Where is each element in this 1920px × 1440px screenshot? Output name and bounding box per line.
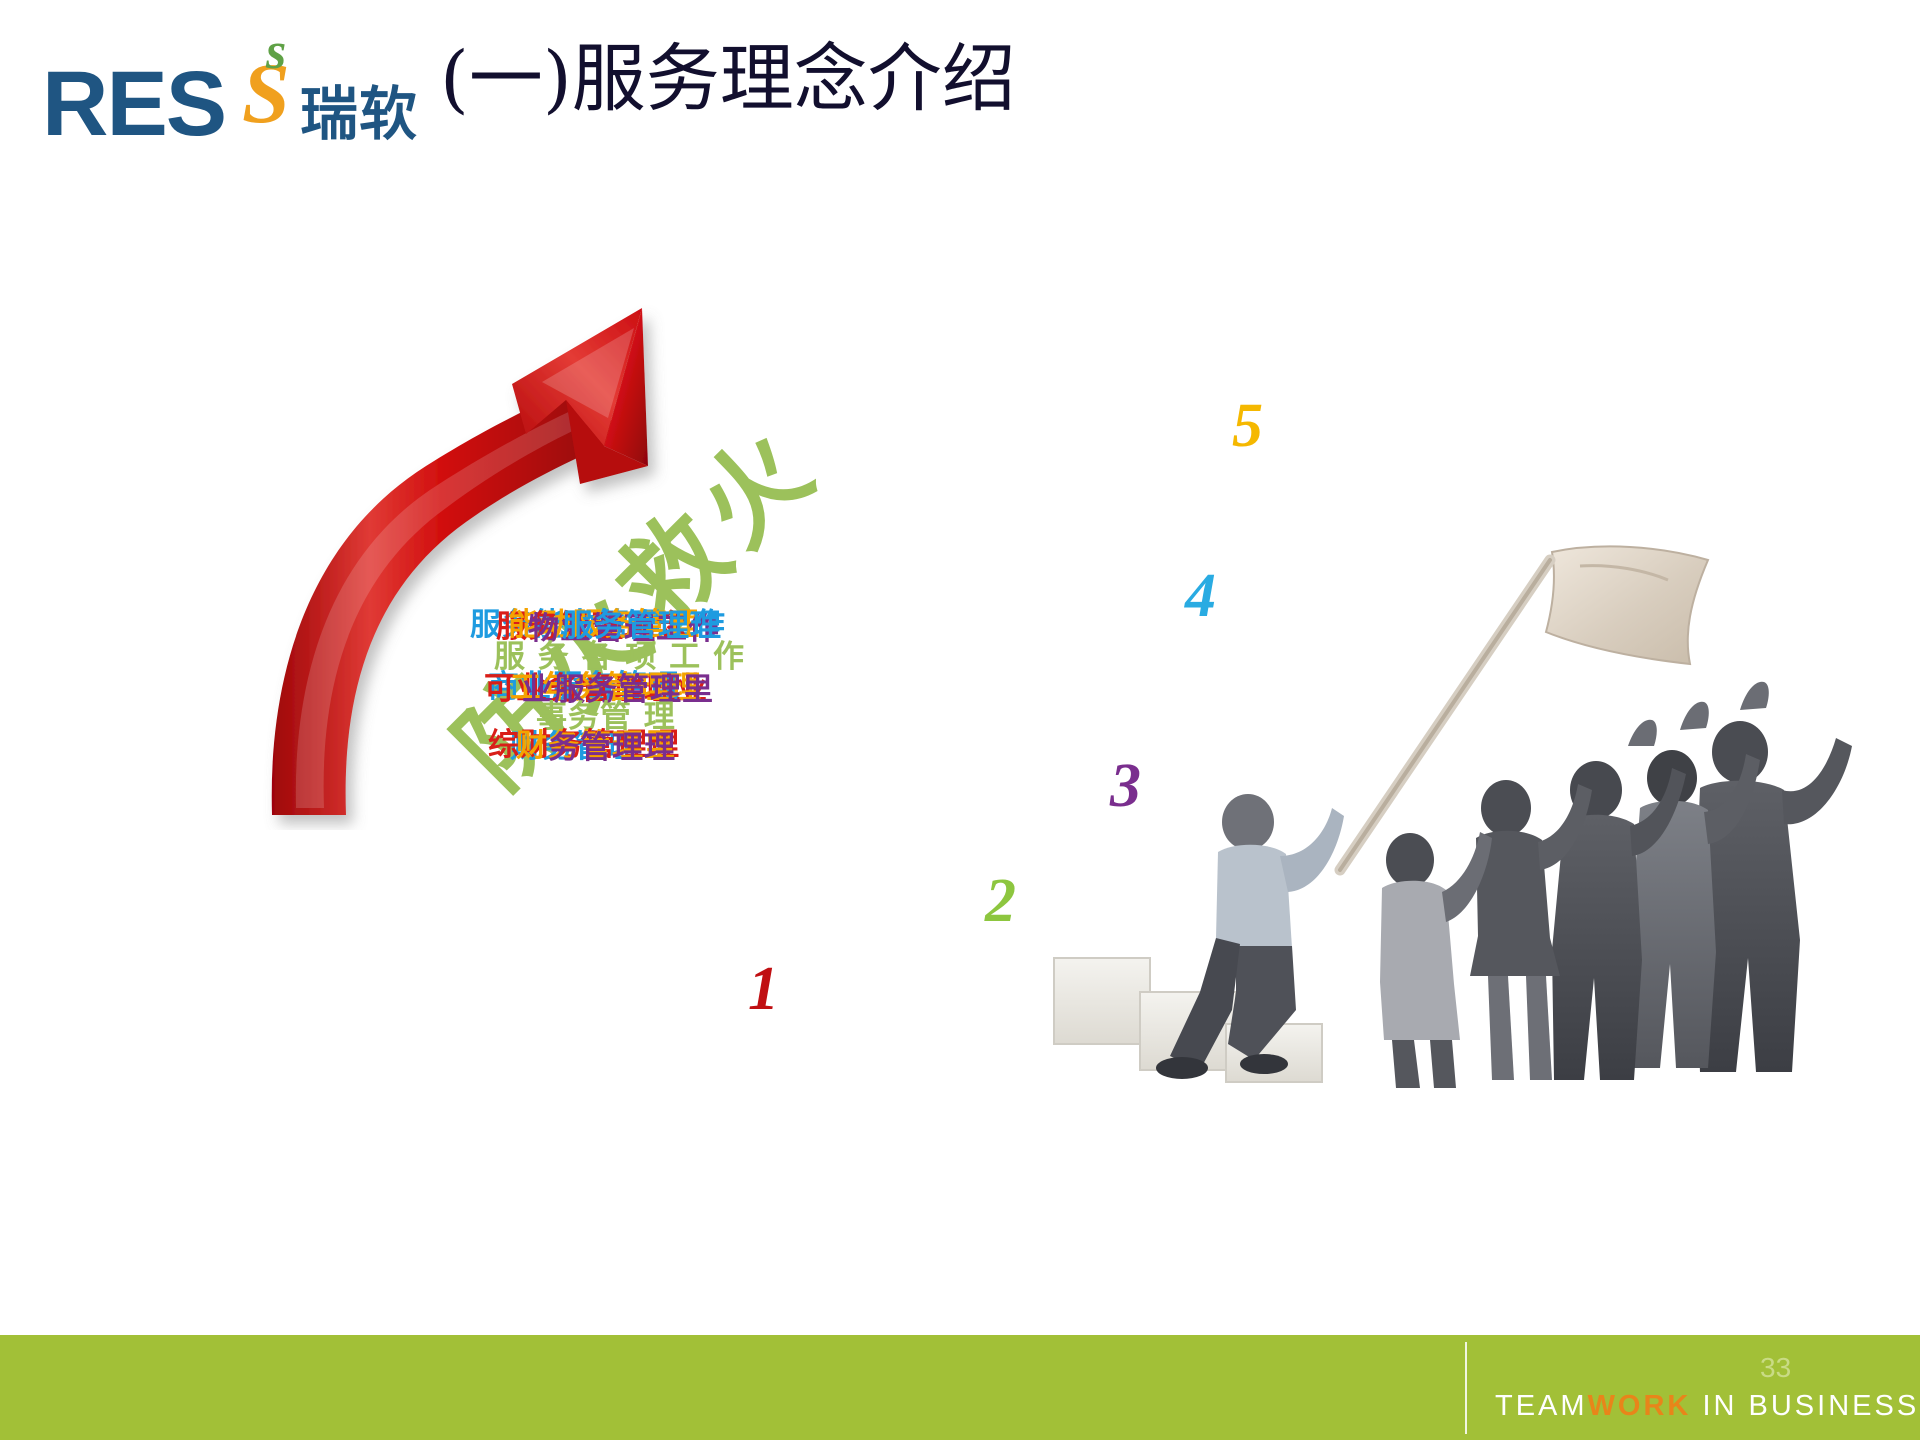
footer-tagline: TEAMWORK IN BUSINESS: [1495, 1390, 1919, 1423]
step-number-1: 1: [748, 958, 779, 1020]
page-number: 33: [1760, 1352, 1791, 1384]
company-logo: RES S s 瑞软: [42, 30, 422, 150]
step-number-2: 2: [985, 870, 1016, 932]
cluster-line: 务管理理: [548, 733, 676, 764]
footer-bar: [0, 1335, 1920, 1440]
logo-green-s-icon: s: [266, 26, 286, 78]
step-number-5: 5: [1232, 395, 1263, 457]
page-title: (一)服务理念介绍: [440, 42, 1016, 116]
logo-wordmark: RES: [42, 58, 225, 150]
tagline-accent: WORK: [1588, 1390, 1692, 1422]
slide-canvas: RES S s 瑞软 (一)服务理念介绍: [0, 0, 1920, 1440]
tagline-part1: TEAM: [1495, 1390, 1588, 1422]
logo-chinese-name: 瑞软: [300, 85, 418, 143]
crowd: [1156, 682, 1852, 1088]
cluster-line: 服务管理理: [562, 611, 722, 642]
tagline-part2: IN BUSINESS: [1691, 1390, 1919, 1422]
footer-divider: [1465, 1342, 1467, 1434]
overlapping-text-cluster: 服务能力管理工作服务管理理念能动服务管理物业管理工作服务管理理服 务 各 项 工…: [470, 610, 800, 760]
team-raising-flag-photo: [1040, 540, 1880, 1100]
